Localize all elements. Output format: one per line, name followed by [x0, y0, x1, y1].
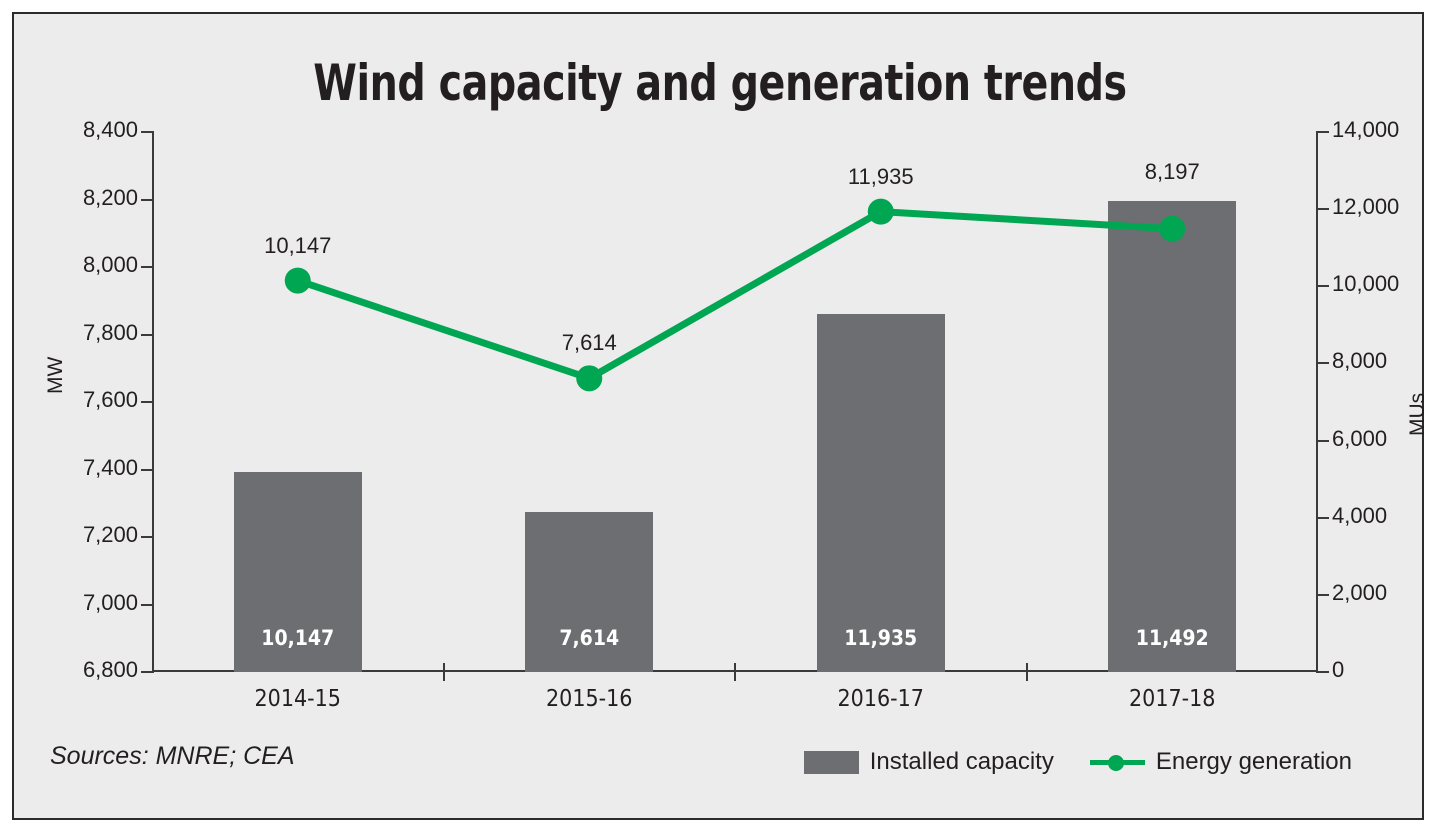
chart-page: Wind capacity and generation trends MW M… [0, 0, 1436, 832]
legend-label-installed-capacity: Installed capacity [870, 748, 1054, 776]
y-axis-left-tick-label: 7,200 [28, 524, 138, 546]
line-data-point[interactable] [576, 365, 602, 391]
line-point-label: 11,935 [801, 164, 961, 190]
x-axis-tick [734, 663, 736, 681]
x-axis-category-label: 2014-15 [188, 686, 408, 712]
chart-frame: Wind capacity and generation trends MW M… [12, 12, 1424, 820]
line-marker-icon [1090, 751, 1145, 774]
bar-inner-label: 10,147 [234, 626, 362, 650]
y-axis-left-tick-label: 7,000 [28, 592, 138, 614]
x-axis-category-label: 2015-16 [479, 686, 699, 712]
y-axis-right-tick [1316, 362, 1329, 364]
y-axis-right-tick-label: 14,000 [1332, 119, 1436, 141]
legend-item-installed-capacity[interactable]: Installed capacity [804, 748, 1054, 776]
y-axis-left-tick [141, 266, 154, 268]
x-axis-tick [1026, 663, 1028, 681]
line-point-label: 10,147 [218, 233, 378, 259]
source-note: Sources: MNRE; CEA [50, 742, 295, 771]
y-axis-left-tick [141, 131, 154, 133]
plot-area: 6,8007,0007,2007,4007,6007,8008,0008,200… [152, 132, 1318, 672]
chart-legend: Installed capacity Energy generation [804, 748, 1352, 776]
y-axis-right-tick-label: 2,000 [1332, 582, 1436, 604]
bar-inner-label: 7,614 [525, 626, 653, 650]
y-axis-left-tick-label: 8,000 [28, 254, 138, 276]
y-axis-left-tick [141, 536, 154, 538]
line-data-point[interactable] [285, 268, 311, 294]
y-axis-right-tick [1316, 440, 1329, 442]
y-axis-right-tick-label: 10,000 [1332, 273, 1436, 295]
y-axis-left-tick [141, 671, 154, 673]
y-axis-right-line [1316, 132, 1318, 672]
bar[interactable]: 11,492 [1108, 201, 1236, 672]
legend-item-energy-generation[interactable]: Energy generation [1090, 748, 1352, 776]
y-axis-right-tick [1316, 131, 1329, 133]
y-axis-right-tick [1316, 594, 1329, 596]
bar-inner-label: 11,492 [1108, 626, 1236, 650]
energy-generation-points [285, 199, 1186, 392]
y-axis-right-tick [1316, 671, 1329, 673]
bar[interactable]: 7,614 [525, 512, 653, 672]
y-axis-left-tick-label: 8,200 [28, 187, 138, 209]
line-data-point[interactable] [868, 199, 894, 225]
y-axis-left-tick [141, 334, 154, 336]
y-axis-left-tick [141, 469, 154, 471]
line-point-label: 7,614 [509, 330, 669, 356]
y-axis-right-tick-label: 8,000 [1332, 350, 1436, 372]
y-axis-right-tick-label: 0 [1332, 659, 1436, 681]
energy-generation-line [298, 212, 1173, 379]
bar-inner-label: 11,935 [817, 626, 945, 650]
y-axis-left-tick-label: 7,800 [28, 322, 138, 344]
bar-top-label: 8,197 [1092, 159, 1252, 185]
y-axis-left-tick-label: 7,400 [28, 457, 138, 479]
legend-label-energy-generation: Energy generation [1156, 748, 1352, 776]
y-axis-left-tick [141, 604, 154, 606]
bar-swatch-icon [804, 751, 859, 774]
bar[interactable]: 11,935 [817, 314, 945, 672]
x-axis-category-label: 2017-18 [1062, 686, 1282, 712]
y-axis-left-tick [141, 199, 154, 201]
y-axis-left-tick-label: 6,800 [28, 659, 138, 681]
y-axis-right-tick-label: 6,000 [1332, 428, 1436, 450]
y-axis-left-tick [141, 401, 154, 403]
y-axis-right-tick [1316, 285, 1329, 287]
y-axis-right-tick [1316, 208, 1329, 210]
y-axis-right-tick [1316, 517, 1329, 519]
page-title: Wind capacity and generation trends [99, 54, 1342, 112]
bar[interactable]: 10,147 [234, 472, 362, 672]
y-axis-right-tick-label: 12,000 [1332, 196, 1436, 218]
x-axis-tick [443, 663, 445, 681]
x-axis-category-label: 2016-17 [771, 686, 991, 712]
y-axis-right-tick-label: 4,000 [1332, 505, 1436, 527]
y-axis-left-tick-label: 8,400 [28, 119, 138, 141]
y-axis-left-tick-label: 7,600 [28, 389, 138, 411]
